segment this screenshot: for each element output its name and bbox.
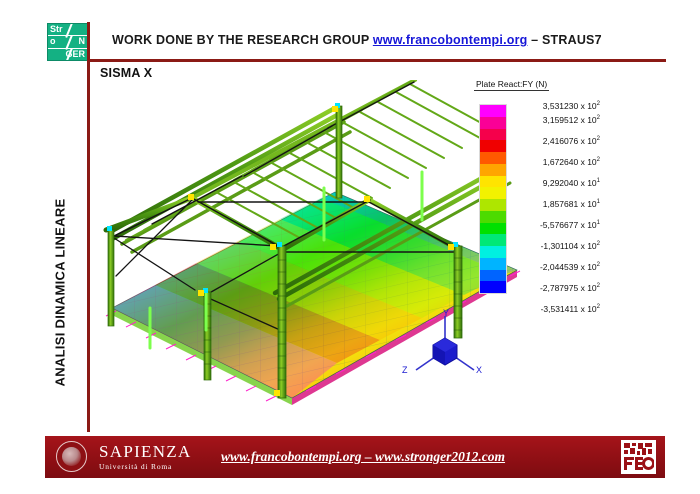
section-label-vertical: ANALISI DINAMICA LINEARE	[53, 178, 68, 408]
header-link[interactable]: www.francobontempi.org	[373, 33, 528, 47]
footer-link[interactable]: www.francobontempi.org – www.stronger201…	[221, 449, 505, 465]
legend-color-bar	[479, 104, 507, 294]
stronger-logo-text-n: N	[79, 36, 86, 47]
legend-value-6: -5,576677 x 101	[540, 220, 600, 230]
axis-triad: Y Z X	[400, 308, 490, 393]
sapienza-seal-icon	[56, 441, 87, 472]
legend-color-band-8	[480, 199, 506, 211]
stronger-logo-text-o: o	[50, 36, 56, 47]
axis-label-z: Z	[402, 365, 408, 375]
axis-label-y: Y	[443, 308, 449, 318]
legend-color-band-13	[480, 258, 506, 270]
footer-bar: SAPIENZA Università di Roma www.francobo…	[45, 436, 665, 478]
legend-color-band-14	[480, 270, 506, 282]
page-title-prefix: WORK DONE BY THE RESEARCH GROUP	[112, 33, 369, 47]
header-divider	[88, 59, 666, 62]
vertical-divider	[87, 22, 90, 432]
legend-value-2: 2,416076 x 102	[543, 136, 600, 146]
university-name: SAPIENZA	[99, 443, 192, 461]
stronger-logo-text-ger: GER	[65, 49, 85, 60]
legend-color-band-11	[480, 234, 506, 246]
page-title-suffix: – STRAUS7	[531, 33, 602, 47]
legend-color-band-12	[480, 246, 506, 258]
load-case-title: SISMA X	[100, 66, 152, 80]
fbo-logo	[621, 440, 656, 474]
legend-value-7: -1,301104 x 102	[541, 241, 600, 251]
university-subtitle: Università di Roma	[99, 462, 192, 472]
contour-legend: Plate React:FY (N) 3,531230 x 1023,15951…	[470, 74, 600, 301]
legend-value-labels: 3,531230 x 1023,159512 x 1022,416076 x 1…	[512, 95, 600, 301]
legend-body: 3,531230 x 1023,159512 x 1022,416076 x 1…	[470, 95, 600, 301]
legend-title: Plate React:FY (N)	[474, 79, 549, 91]
legend-value-4: 9,292040 x 101	[543, 178, 600, 188]
stronger-logo-row-2: o N	[48, 36, 87, 48]
fbo-logo-inner	[623, 442, 654, 472]
legend-color-band-10	[480, 223, 506, 235]
stronger-logo-text-str: Str	[50, 24, 63, 35]
axis-label-x: X	[476, 365, 482, 375]
stronger-logo-row-1: Str	[48, 24, 87, 36]
sapienza-seal-inner	[62, 447, 81, 466]
legend-color-band-5	[480, 164, 506, 176]
legend-color-band-6	[480, 176, 506, 188]
axis-triad-icon	[400, 308, 490, 393]
legend-value-10: -3,531411 x 102	[541, 304, 600, 314]
stronger-logo-row-3: GER	[48, 49, 87, 61]
legend-color-band-3	[480, 140, 506, 152]
legend-value-1: 3,159512 x 102	[543, 115, 600, 125]
legend-value-3: 1,672640 x 102	[543, 157, 600, 167]
legend-color-band-1	[480, 117, 506, 129]
fbo-logo-icon	[623, 442, 654, 472]
legend-color-band-4	[480, 152, 506, 164]
legend-color-band-15	[480, 281, 506, 293]
university-branding: SAPIENZA Università di Roma	[99, 443, 192, 472]
legend-color-band-9	[480, 211, 506, 223]
legend-color-band-0	[480, 105, 506, 117]
page-title: WORK DONE BY THE RESEARCH GROUP www.fran…	[112, 33, 602, 47]
legend-value-5: 1,857681 x 101	[543, 199, 600, 209]
slide-canvas: Str o N GER WORK DONE BY THE RESEARCH GR…	[0, 0, 700, 494]
legend-value-9: -2,787975 x 102	[540, 283, 600, 293]
legend-color-band-2	[480, 129, 506, 141]
stronger-logo: Str o N GER	[47, 23, 88, 61]
legend-value-8: -2,044539 x 102	[540, 262, 600, 272]
legend-value-0: 3,531230 x 102	[543, 101, 600, 111]
legend-color-band-7	[480, 187, 506, 199]
